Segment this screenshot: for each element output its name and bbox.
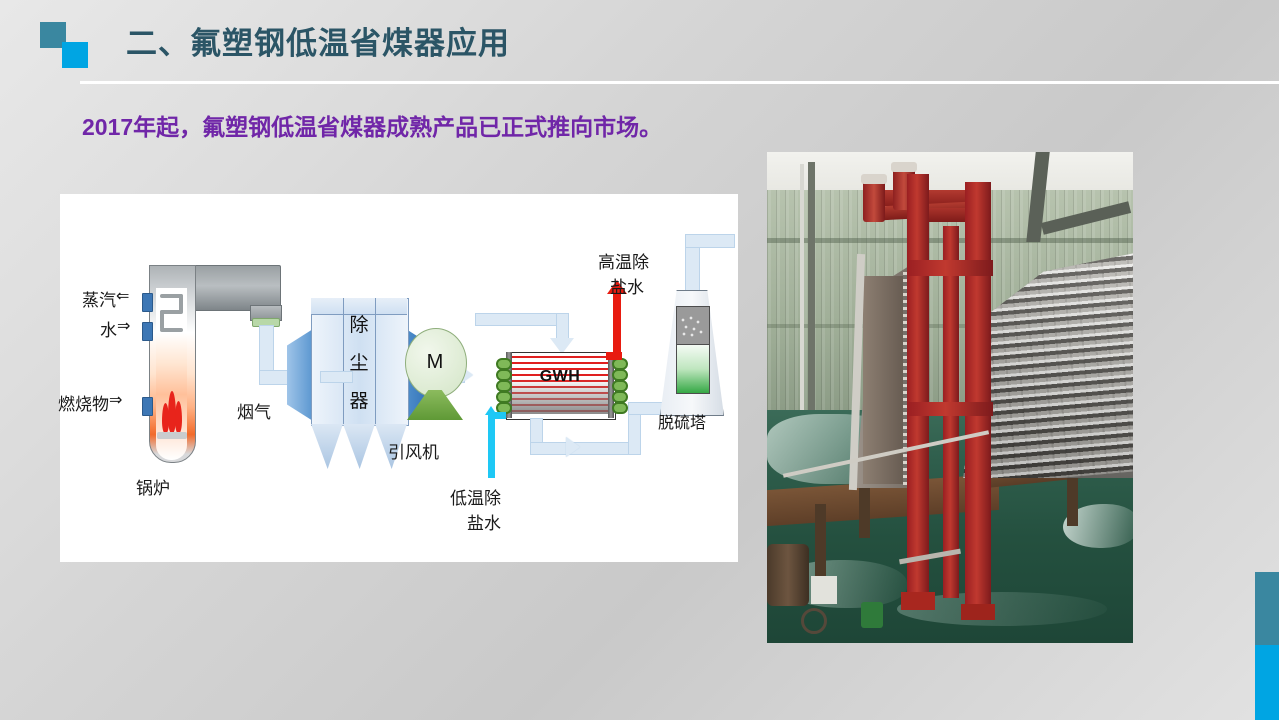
photo-red-nozzle-1	[863, 178, 885, 222]
decor-square-light-icon	[62, 42, 88, 68]
photo-rusty-tank	[767, 544, 809, 606]
process-flow-diagram: 蒸汽⇐ 水⇒ 燃烧物⇒ 锅炉 烟气 除 尘 器	[60, 194, 738, 562]
site-photo	[767, 152, 1133, 643]
slide-root: 二、氟塑钢低温省煤器应用 2017年起，氟塑钢低温省煤器成熟产品已正式推向市场。…	[0, 0, 1279, 720]
boiler-flame-icon	[160, 389, 184, 435]
label-fuel: 燃烧物⇒	[58, 390, 109, 415]
tower-slurry-pool	[676, 344, 710, 394]
steam-nozzle	[142, 293, 153, 312]
label-flue-gas: 烟气	[237, 398, 271, 423]
photo-red-base-2	[961, 604, 995, 620]
label-steam-text: 蒸汽	[82, 291, 116, 311]
photo-green-equipment	[861, 602, 883, 628]
dust-collector-char-3: 器	[314, 382, 404, 420]
dust-collector-inlet-wing	[287, 329, 313, 421]
photo-red-crossbrace-2	[907, 402, 993, 416]
edge-accent-top	[1255, 572, 1279, 645]
cold-demin-water-pipe-vertical	[488, 412, 495, 478]
photo-post	[808, 162, 815, 420]
tower-spray-droplets-icon	[680, 316, 704, 338]
photo-red-base-1	[901, 592, 935, 610]
dust-collector-hopper-2	[343, 424, 375, 469]
cold-demin-water-arrow-icon	[485, 406, 497, 415]
dust-collector-char-1: 除	[314, 306, 404, 344]
label-steam: 蒸汽⇐	[82, 286, 116, 311]
gwh-heat-exchanger: GWH	[496, 352, 624, 418]
title-divider	[80, 81, 1279, 84]
water-arrow-icon: ⇒	[117, 316, 130, 335]
photo-pallet-leg-2	[859, 482, 870, 538]
dust-collector-hopper-1	[311, 424, 343, 469]
photo-valve-wheel-icon	[801, 608, 827, 634]
fuel-nozzle	[142, 397, 153, 416]
gwh-return-bends-right	[612, 358, 624, 414]
label-hot-demin-water-line1: 高温除	[598, 248, 649, 273]
duct-gwh-outlet-horizontal	[530, 442, 640, 455]
label-induced-draft-fan: 引风机	[388, 438, 439, 463]
label-hot-demin-water-line2: 盐水	[610, 273, 644, 298]
gwh-return-bends-left	[496, 358, 508, 414]
boiler-coil-icon	[160, 294, 183, 336]
photo-flange-1	[861, 174, 887, 184]
label-boiler: 锅炉	[136, 474, 170, 499]
duct-to-dust-collector	[320, 371, 353, 383]
label-water-text: 水	[100, 321, 117, 341]
photo-red-crossbrace-1	[907, 260, 993, 276]
label-water: 水⇒	[100, 316, 117, 341]
label-dust-collector: 除 尘 器	[314, 306, 404, 420]
duct-fan-to-gwh-horizontal	[475, 313, 569, 326]
label-cold-demin-water-line2: 盐水	[467, 509, 501, 534]
hot-demin-water-pipe-elbow	[606, 352, 622, 360]
water-nozzle	[142, 322, 153, 341]
label-desulfurization-tower: 脱硫塔	[658, 409, 706, 433]
duct-gwh-outlet-arrow-icon	[566, 437, 580, 457]
label-cold-demin-water-line1: 低温除	[450, 484, 501, 509]
tower-stack-horizontal	[685, 234, 735, 248]
hot-demin-water-pipe-vertical	[613, 290, 621, 360]
edge-accent-bottom	[1255, 645, 1279, 720]
photo-pallet-leg-4	[1067, 470, 1078, 526]
photo-red-column-1	[907, 174, 929, 594]
page-title: 二、氟塑钢低温省煤器应用	[126, 18, 510, 63]
photo-red-column-3	[965, 182, 991, 614]
fan-motor-label: M	[405, 328, 465, 396]
photo-conduit-rod	[800, 164, 804, 420]
fuel-arrow-icon: ⇒	[109, 390, 122, 409]
photo-white-container	[811, 576, 837, 604]
gwh-label: GWH	[506, 368, 614, 386]
boiler-ash-bed	[157, 432, 187, 439]
label-fuel-text: 燃烧物	[58, 395, 109, 415]
subtitle-text: 2017年起，氟塑钢低温省煤器成熟产品已正式推向市场。	[82, 108, 662, 142]
steam-arrow-icon: ⇐	[116, 286, 129, 305]
photo-flange-2	[891, 162, 917, 172]
